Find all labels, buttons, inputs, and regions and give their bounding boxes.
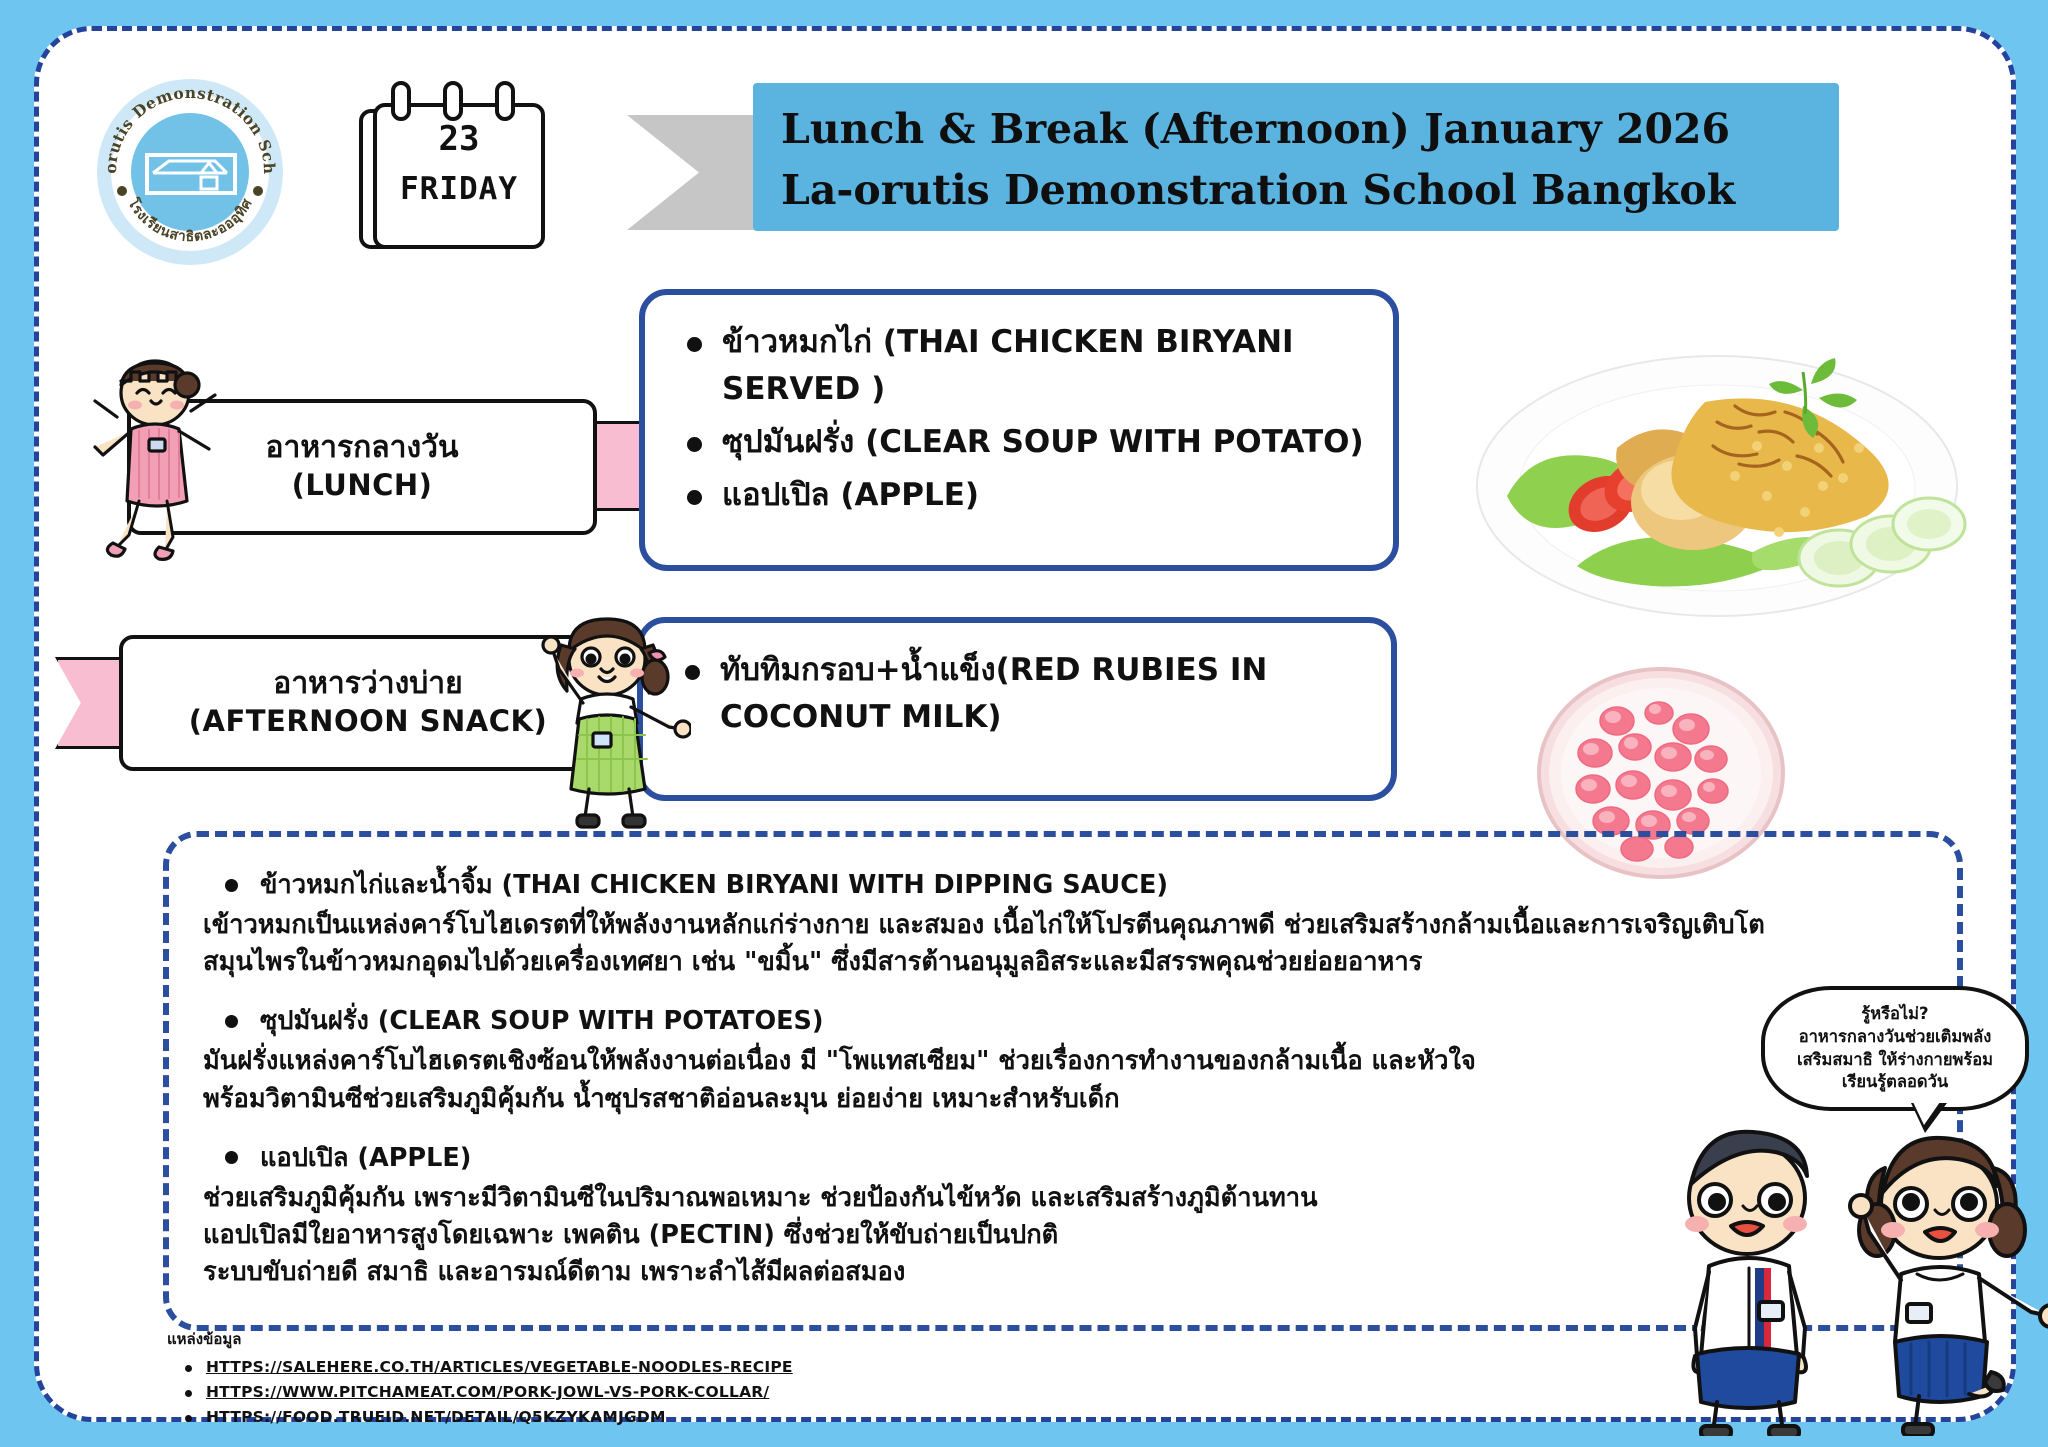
calendar-ring-2 — [443, 81, 463, 121]
nutrition-heading-row: ข้าวหมกไก่และน้ำจิ้ม (THAI CHICKEN BIRYA… — [225, 865, 1927, 905]
header-title-line1: Lunch & Break (Afternoon) January 2026 — [781, 99, 1815, 160]
snack-item-label: ทับทิมกรอบ+น้ำแข็ง(RED RUBIES IN COCONUT… — [720, 647, 1363, 741]
snack-label-thai: อาหารว่างบ่าย — [273, 665, 462, 703]
calendar-ring-3 — [495, 81, 515, 121]
calendar-ring-1 — [391, 81, 411, 121]
lunch-label-thai: อาหารกลางวัน — [266, 429, 459, 467]
mascot-student-pair — [1639, 1106, 2048, 1436]
nutrition-heading-row: ซุปมันฝรั่ง (CLEAR SOUP WITH POTATOES) — [225, 1001, 1927, 1041]
lunch-menu-item: ซุปมันฝรั่ง (CLEAR SOUP WITH POTATO) — [679, 419, 1365, 466]
nutrition-line: สมุนไพรในข้าวหมกอุดมไปด้วยเครื่องเทศยา เ… — [203, 944, 1927, 981]
bubble-line: เรียนรู้ตลอดวัน — [1842, 1071, 1948, 1094]
snack-menu-item: ทับทิมกรอบ+น้ำแข็ง(RED RUBIES IN COCONUT… — [677, 647, 1363, 741]
mascot-girl-green — [531, 611, 691, 831]
bullet-dot — [687, 337, 702, 352]
bubble-tail-inner — [1913, 1102, 1940, 1125]
source-link[interactable]: HTTPS://FOOD.TRUEID.NET/DETAIL/Q5KZYKAMJ… — [206, 1405, 666, 1430]
nutrition-line: มันฝรั่งแหล่งคาร์โบไฮเดรตเชิงซ้อนให้พลัง… — [203, 1043, 1927, 1080]
bullet-dot — [185, 1415, 192, 1422]
nutrition-heading: ข้าวหมกไก่และน้ำจิ้ม (THAI CHICKEN BIRYA… — [260, 865, 1168, 905]
snack-label-english: (AFTERNOON SNACK) — [189, 703, 547, 741]
poster-card: La-orutis Demonstration School โรงเรียนส… — [34, 26, 2016, 1422]
lunch-label-english: (LUNCH) — [292, 467, 433, 505]
source-link[interactable]: HTTPS://WWW.PITCHAMEAT.COM/PORK-JOWL-VS-… — [206, 1380, 769, 1405]
header-title-line2: La-orutis Demonstration School Bangkok — [781, 160, 1815, 221]
poster-canvas: La-orutis Demonstration School โรงเรียนส… — [0, 0, 2048, 1447]
source-item[interactable]: HTTPS://WWW.PITCHAMEAT.COM/PORK-JOWL-VS-… — [167, 1380, 967, 1405]
svg-text:โรงเรียนสาธิตละอออุทิศ: โรงเรียนสาธิตละอออุทิศ — [124, 194, 256, 245]
logo-building-icon — [145, 151, 237, 197]
calendar-icon: 23 FRIDAY — [357, 79, 547, 249]
bullet-dot — [185, 1365, 192, 1372]
logo-arc-bottom-label: โรงเรียนสาธิตละอออุทิศ — [124, 194, 256, 245]
bullet-dot — [687, 490, 702, 505]
calendar-day-name: FRIDAY — [377, 171, 541, 207]
bubble-line: รู้หรือไม่? — [1861, 1003, 1928, 1026]
lunch-menu-item: ข้าวหมกไก่ (THAI CHICKEN BIRYANI SERVED … — [679, 319, 1365, 413]
did-you-know-speech-bubble: รู้หรือไม่? อาหารกลางวันช่วยเติมพลัง เสร… — [1761, 986, 2029, 1111]
lunch-menu-item: แอปเปิล (APPLE) — [679, 472, 1365, 519]
source-item[interactable]: HTTPS://SALEHERE.CO.TH/ARTICLES/VEGETABL… — [167, 1355, 967, 1380]
lunch-food-photo — [1467, 336, 1967, 626]
bullet-dot — [225, 879, 238, 892]
calendar-day-number: 23 — [377, 119, 541, 159]
nutrition-line: เข้าวหมกเป็นแหล่งคาร์โบไฮเดรตที่ให้พลังง… — [203, 907, 1927, 944]
lunch-item-label: ข้าวหมกไก่ (THAI CHICKEN BIRYANI SERVED … — [722, 319, 1365, 413]
sources-label: แหล่งข้อมูล — [167, 1327, 967, 1351]
lunch-item-label: ซุปมันฝรั่ง (CLEAR SOUP WITH POTATO) — [722, 419, 1364, 466]
school-logo: La-orutis Demonstration School โรงเรียนส… — [97, 79, 283, 265]
nutrition-heading: ซุปมันฝรั่ง (CLEAR SOUP WITH POTATOES) — [260, 1001, 824, 1041]
bubble-line: อาหารกลางวันช่วยเติมพลัง — [1799, 1026, 1992, 1049]
lunch-menu-box: ข้าวหมกไก่ (THAI CHICKEN BIRYANI SERVED … — [639, 289, 1399, 571]
lunch-item-label: แอปเปิล (APPLE) — [722, 472, 979, 519]
bullet-dot — [225, 1151, 238, 1164]
source-link[interactable]: HTTPS://SALEHERE.CO.TH/ARTICLES/VEGETABL… — [206, 1355, 793, 1380]
nutrition-heading: แอปเปิล (APPLE) — [260, 1138, 471, 1178]
snack-menu-box: ทับทิมกรอบ+น้ำแข็ง(RED RUBIES IN COCONUT… — [637, 617, 1397, 801]
bullet-dot — [687, 437, 702, 452]
calendar-front-page: 23 FRIDAY — [373, 103, 545, 249]
source-item[interactable]: HTTPS://FOOD.TRUEID.NET/DETAIL/Q5KZYKAMJ… — [167, 1405, 967, 1430]
mascot-girl-pink — [87, 351, 237, 561]
bullet-dot — [225, 1015, 238, 1028]
nutrition-block: ข้าวหมกไก่และน้ำจิ้ม (THAI CHICKEN BIRYA… — [203, 865, 1927, 981]
bubble-line: เสริมสมาธิ ให้ร่างกายพร้อม — [1797, 1049, 1993, 1072]
header-blue-banner: Lunch & Break (Afternoon) January 2026 L… — [753, 83, 1839, 231]
bullet-dot — [185, 1390, 192, 1397]
sources-section: แหล่งข้อมูล HTTPS://SALEHERE.CO.TH/ARTIC… — [167, 1327, 967, 1430]
sources-list: HTTPS://SALEHERE.CO.TH/ARTICLES/VEGETABL… — [167, 1355, 967, 1430]
nutrition-block: ซุปมันฝรั่ง (CLEAR SOUP WITH POTATOES) ม… — [203, 1001, 1927, 1117]
